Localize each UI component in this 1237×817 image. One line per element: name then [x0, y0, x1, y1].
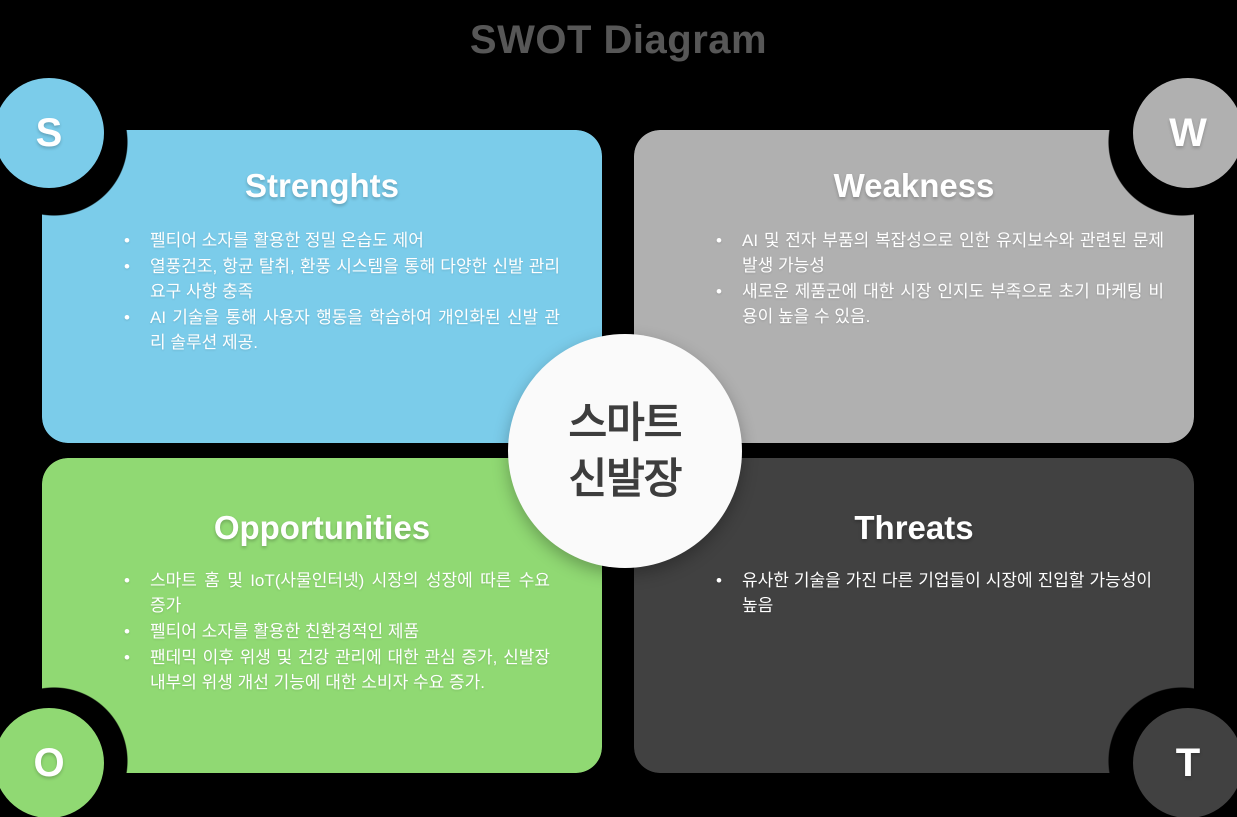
page-title: SWOT Diagram	[0, 14, 1237, 66]
list-item: AI 기술을 통해 사용자 행동을 학습하여 개인화된 신발 관리 솔루션 제공…	[120, 305, 560, 355]
badge-weakness[interactable]: W	[1133, 78, 1237, 188]
list-item: 열풍건조, 항균 탈취, 환풍 시스템을 통해 다양한 신발 관리 요구 사항 …	[120, 254, 560, 304]
list-item: 스마트 홈 및 IoT(사물인터넷) 시장의 성장에 따른 수요 증가	[120, 568, 550, 618]
quadrant-weakness-heading: Weakness	[634, 166, 1194, 206]
quadrant-weakness-bullets: AI 및 전자 부품의 복잡성으로 인한 유지보수와 관련된 문제 발생 가능성…	[712, 228, 1164, 330]
quadrant-strengths[interactable]: Strenghts 펠티어 소자를 활용한 정밀 온습도 제어 열풍건조, 항균…	[42, 130, 602, 443]
swot-diagram: SWOT Diagram Strenghts 펠티어 소자를 활용한 정밀 온습…	[0, 0, 1237, 817]
quadrant-opportunities-bullets: 스마트 홈 및 IoT(사물인터넷) 시장의 성장에 따른 수요 증가 펠티어 …	[120, 568, 550, 696]
list-item: 팬데믹 이후 위생 및 건강 관리에 대한 관심 증가, 신발장 내부의 위생 …	[120, 645, 550, 695]
quadrant-strengths-heading: Strenghts	[42, 166, 602, 206]
quadrant-opportunities-heading: Opportunities	[42, 508, 602, 548]
list-item: 펠티어 소자를 활용한 친환경적인 제품	[120, 619, 550, 644]
quadrant-opportunities[interactable]: Opportunities 스마트 홈 및 IoT(사물인터넷) 시장의 성장에…	[42, 458, 602, 773]
center-hub-line2: 신발장	[569, 451, 682, 507]
quadrant-strengths-bullets: 펠티어 소자를 활용한 정밀 온습도 제어 열풍건조, 항균 탈취, 환풍 시스…	[120, 228, 560, 356]
list-item: 새로운 제품군에 대한 시장 인지도 부족으로 초기 마케팅 비용이 높을 수 …	[712, 279, 1164, 329]
badge-opportunities[interactable]: O	[0, 708, 104, 817]
center-hub-line1: 스마트	[569, 395, 682, 451]
center-hub: 스마트 신발장	[508, 334, 742, 568]
quadrant-threats-bullets: 유사한 기술을 가진 다른 기업들이 시장에 진입할 가능성이 높음	[712, 568, 1152, 619]
badge-threats[interactable]: T	[1133, 708, 1237, 817]
list-item: AI 및 전자 부품의 복잡성으로 인한 유지보수와 관련된 문제 발생 가능성	[712, 228, 1164, 278]
list-item: 유사한 기술을 가진 다른 기업들이 시장에 진입할 가능성이 높음	[712, 568, 1152, 618]
list-item: 펠티어 소자를 활용한 정밀 온습도 제어	[120, 228, 560, 253]
